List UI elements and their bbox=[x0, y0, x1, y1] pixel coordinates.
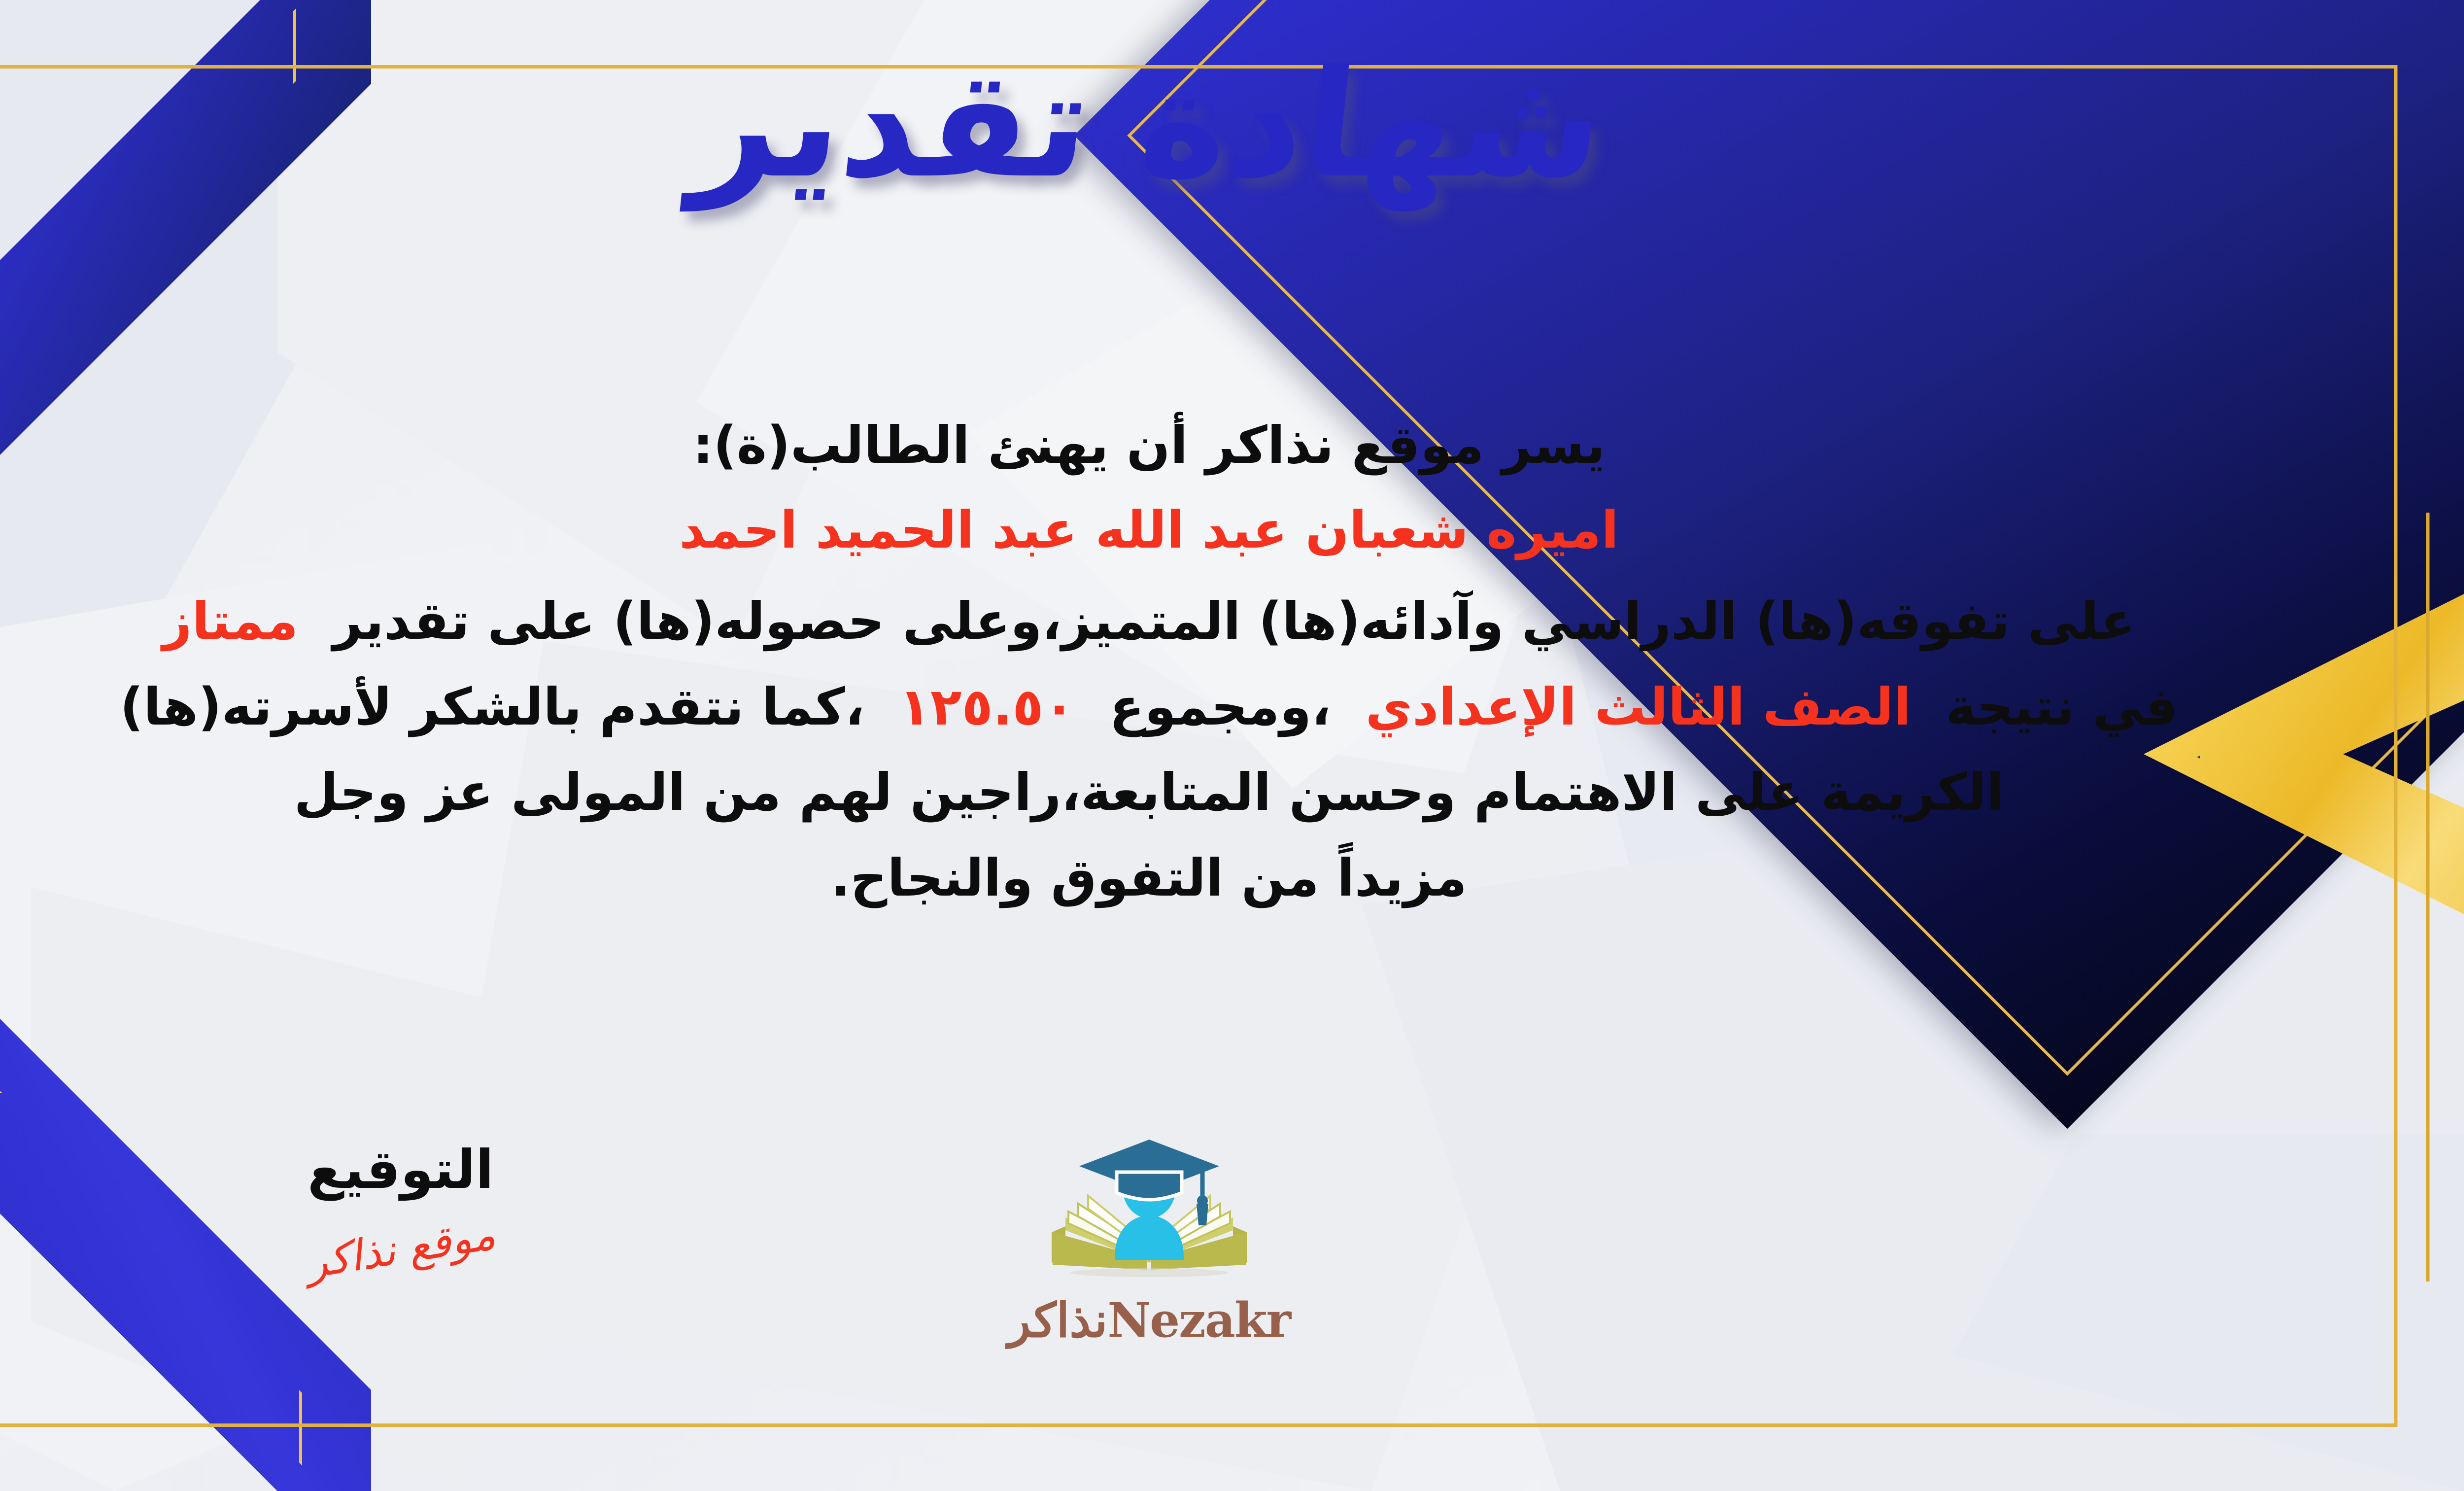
closing-wish-line: مزيداً من التفوق والنجاح. bbox=[0, 842, 2375, 915]
signature-mark: موقع نذاكر bbox=[303, 1210, 499, 1288]
logo-wordmark-arabic: نذاكر bbox=[1008, 1292, 1107, 1348]
certificate-title: شهادة تقدير bbox=[0, 43, 2464, 206]
brand-logo: Nezakrنذاكر bbox=[996, 1134, 1302, 1348]
graduation-book-icon bbox=[1046, 1134, 1253, 1296]
intro-line: يسر موقع نذاكر أن يهنئ الطالب(ة): bbox=[0, 409, 2375, 482]
certificate-body: يسر موقع نذاكر أن يهنئ الطالب(ة): اميره … bbox=[0, 409, 2375, 928]
grade-level-line: في نتيجةالصف الثالث الإعدادي،ومجموع١٢٥.٥… bbox=[0, 671, 2375, 744]
grade-level-value: الصف الثالث الإعدادي bbox=[1366, 677, 1911, 737]
achievement-line: على تفوقه(ها) الدراسي وآدائه(ها) المتميز… bbox=[0, 585, 2375, 658]
logo-wordmark-latin: Nezakr bbox=[1107, 1292, 1290, 1348]
achievement-text: على تفوقه(ها) الدراسي وآدائه(ها) المتميز… bbox=[333, 591, 2135, 651]
logo-wordmark: Nezakrنذاكر bbox=[996, 1292, 1302, 1348]
signature-block: التوقيع موقع نذاكر bbox=[208, 1144, 593, 1274]
student-name: اميره شعبان عبد الله عبد الحميد احمد bbox=[0, 497, 2375, 563]
certificate-page: شهادة تقدير يسر موقع نذاكر أن يهنئ الطال… bbox=[0, 0, 2464, 1491]
total-label: ،ومجموع bbox=[1109, 677, 1331, 737]
grade-rating-value: ممتاز bbox=[163, 591, 299, 651]
total-score-value: ١٢٥.٥٠ bbox=[899, 677, 1075, 737]
in-result-label: في نتيجة bbox=[1946, 677, 2178, 737]
family-thanks-line: الكريمة على الاهتمام وحسن المتابعة،راجين… bbox=[0, 756, 2375, 829]
thanks-text: ،كما نتقدم بالشكر لأسرته(ها) bbox=[120, 677, 864, 737]
signature-label: التوقيع bbox=[208, 1144, 593, 1197]
